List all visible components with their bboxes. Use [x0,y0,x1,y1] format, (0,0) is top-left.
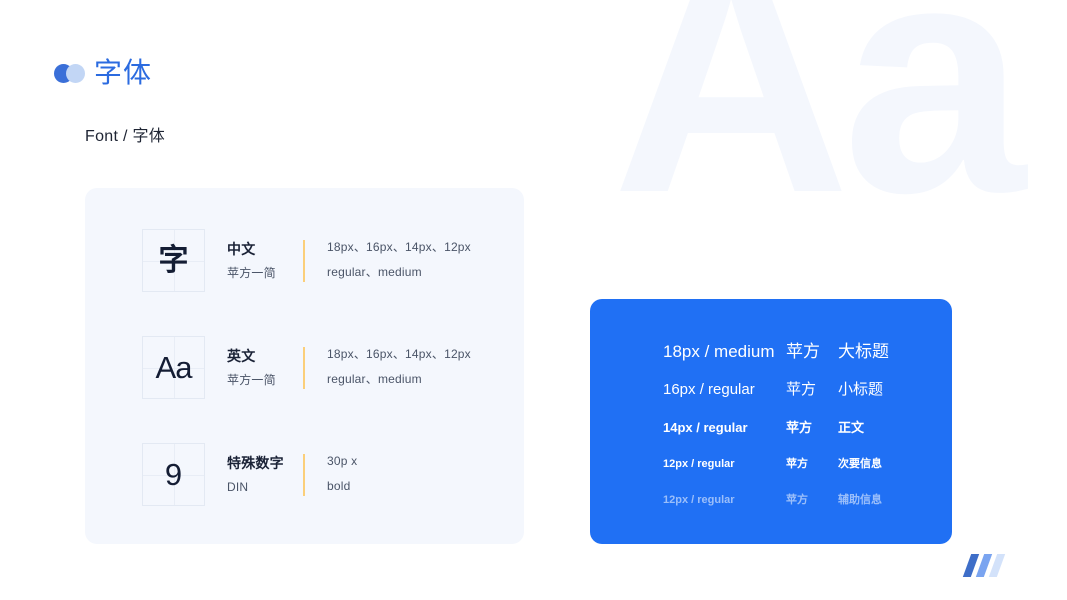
type-scale-family: 苹方 [786,491,838,507]
font-row-labels: 特殊数字 DIN [227,454,303,496]
type-scale-row: 12px / regular 苹方 辅助信息 [663,491,952,507]
row-divider [303,240,305,282]
row-divider [303,347,305,389]
two-overlapping-circles-icon [54,64,85,83]
type-scale-family: 苹方 [786,337,838,362]
font-row-labels: 中文 苹方一简 [227,240,303,282]
font-spec-card: 字 中文 苹方一简 18px、16px、14px、12px regular、me… [85,188,524,544]
brand-header: 字体 [54,59,152,87]
type-scale-family: 苹方 [786,455,838,471]
glyph-sample: 字 [159,246,189,276]
font-row-labels: 英文 苹方一简 [227,347,303,389]
font-spec-row: 字 中文 苹方一简 18px、16px、14px、12px regular、me… [142,229,471,292]
type-scale-usage: 大标题 [838,337,889,362]
font-row-sizes: 18px、16px、14px、12px [327,347,471,363]
font-row-sizes: 30p x [327,454,357,470]
font-row-specs: 30p x bold [327,454,357,494]
type-scale-row: 12px / regular 苹方 次要信息 [663,455,952,471]
type-scale-card: 18px / medium 苹方 大标题 16px / regular 苹方 小… [590,299,952,544]
glyph-preview-box: Aa [142,336,205,399]
page-title: 字体 [94,59,152,87]
glyph-preview-box: 9 [142,443,205,506]
font-row-specs: 18px、16px、14px、12px regular、medium [327,240,471,280]
type-scale-row: 14px / regular 苹方 正文 [663,417,952,436]
type-scale-spec: 12px / regular [663,494,786,506]
font-spec-row: Aa 英文 苹方一简 18px、16px、14px、12px regular、m… [142,336,471,399]
page-subtitle: Font / 字体 [85,122,165,146]
font-row-weights: regular、medium [327,372,471,388]
font-row-family: DIN [227,480,303,496]
type-scale-spec: 18px / medium [663,342,786,362]
glyph-sample: 9 [165,459,182,490]
font-row-specs: 18px、16px、14px、12px regular、medium [327,347,471,387]
font-row-weights: bold [327,479,357,495]
font-row-weights: regular、medium [327,265,471,281]
font-row-name: 中文 [227,240,303,258]
type-scale-spec: 12px / regular [663,458,786,470]
type-scale-family: 苹方 [786,378,838,399]
font-row-family: 苹方一简 [227,266,303,282]
glyph-sample: Aa [156,352,192,383]
background-watermark-aa: Aa [612,0,1018,242]
type-scale-usage: 正文 [838,417,864,436]
three-slanted-bars-icon [967,554,1015,578]
type-scale-row: 16px / regular 苹方 小标题 [663,378,952,399]
row-divider [303,454,305,496]
font-spec-row: 9 特殊数字 DIN 30p x bold [142,443,357,506]
type-scale-usage: 次要信息 [838,455,882,471]
font-row-family: 苹方一简 [227,373,303,389]
slide-canvas: Aa 字体 Font / 字体 字 中文 苹方一简 18px、16px、14px… [0,0,1067,600]
font-row-sizes: 18px、16px、14px、12px [327,240,471,256]
type-scale-row: 18px / medium 苹方 大标题 [663,337,952,362]
type-scale-spec: 14px / regular [663,420,786,435]
type-scale-family: 苹方 [786,417,838,436]
font-row-name: 特殊数字 [227,454,303,472]
font-row-name: 英文 [227,347,303,365]
type-scale-usage: 辅助信息 [838,491,882,507]
type-scale-spec: 16px / regular [663,381,786,398]
type-scale-usage: 小标题 [838,378,883,399]
glyph-preview-box: 字 [142,229,205,292]
